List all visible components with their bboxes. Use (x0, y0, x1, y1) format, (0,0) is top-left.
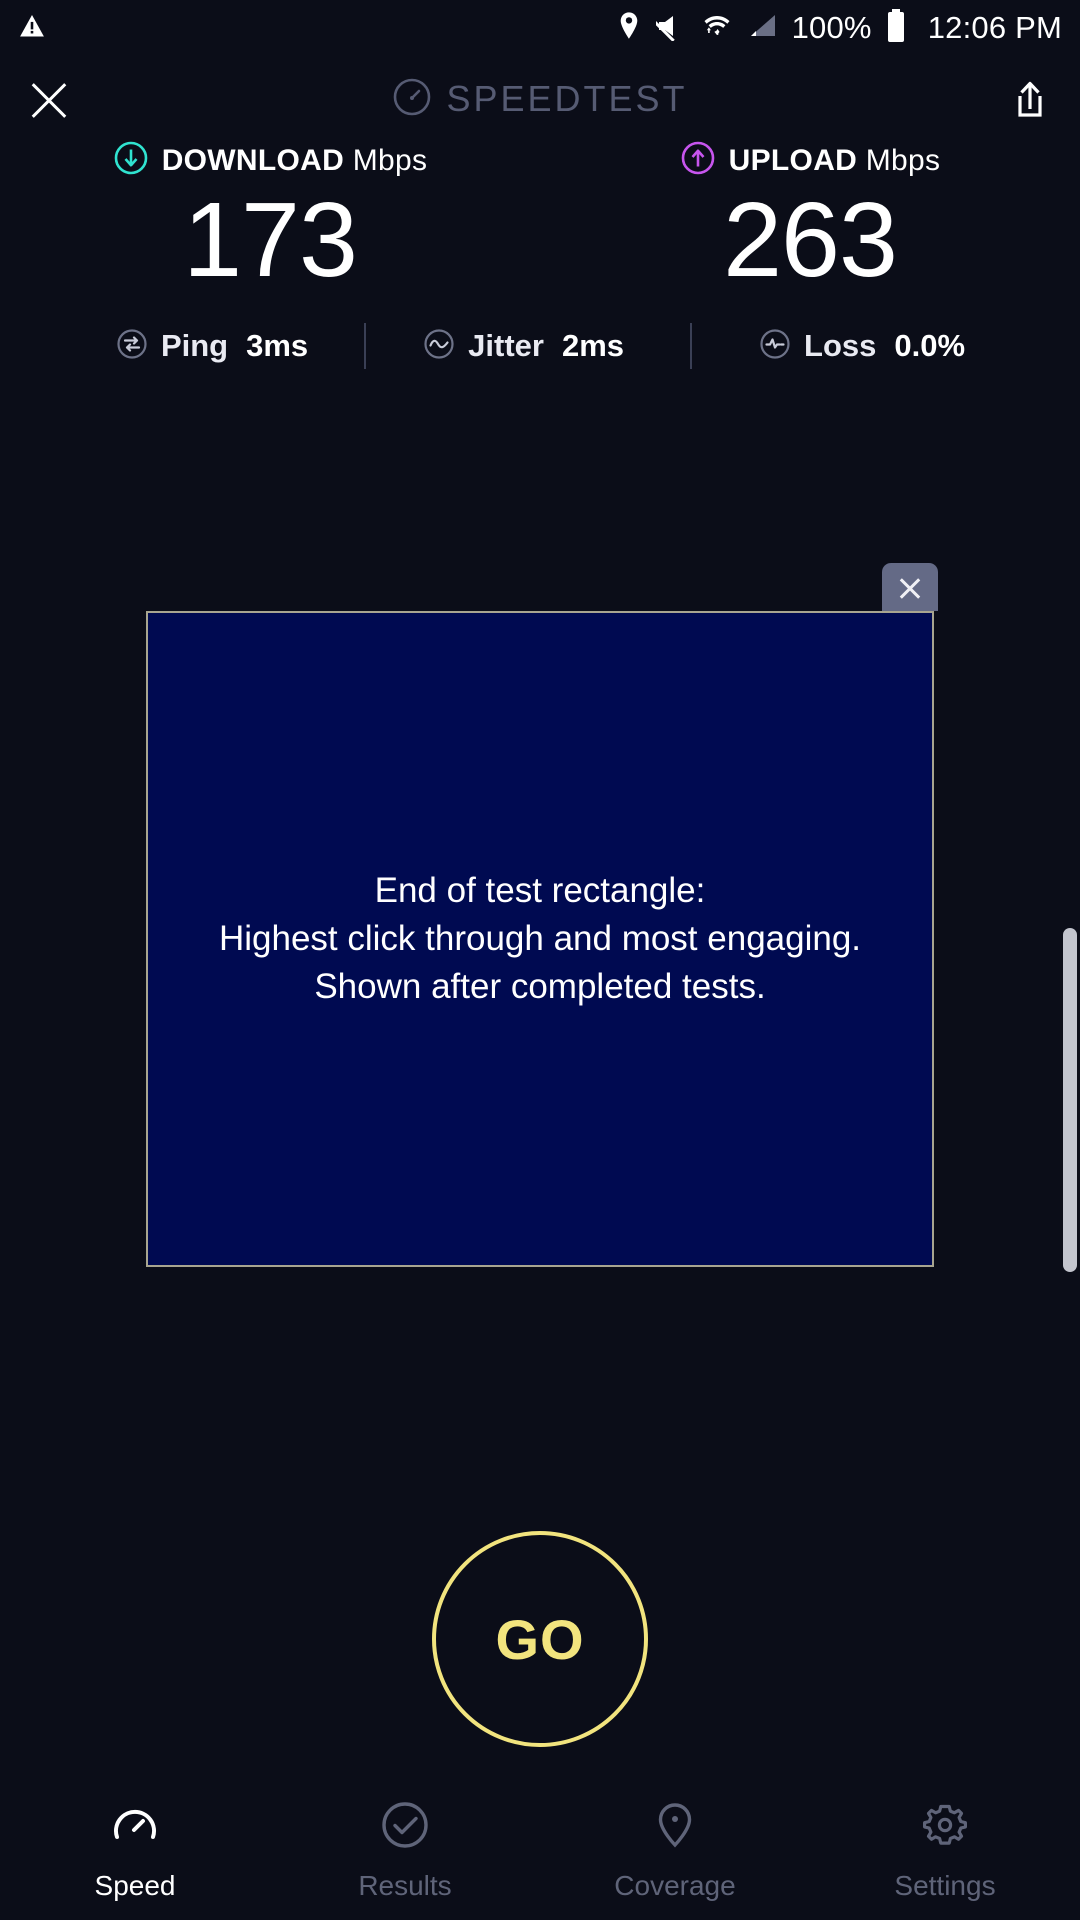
battery-full-icon (886, 9, 906, 48)
scrollbar-thumb[interactable] (1063, 928, 1077, 1272)
location-pin-icon (616, 11, 642, 46)
loss-value: 0.0% (894, 328, 965, 364)
ping-stat: Ping 3ms (101, 327, 322, 366)
download-header: DOWNLOAD Mbps (113, 140, 428, 181)
ping-icon (115, 327, 149, 366)
download-metric: DOWNLOAD Mbps 173 (0, 140, 540, 293)
cellular-signal-icon (746, 11, 778, 46)
ping-value: 3ms (246, 328, 308, 364)
nav-label-coverage: Coverage (614, 1870, 735, 1902)
gear-icon (919, 1799, 971, 1856)
upload-header: UPLOAD Mbps (680, 140, 941, 181)
ad-close-icon[interactable] (882, 563, 938, 611)
status-bar-left (18, 12, 46, 45)
ping-jitter-loss-row: Ping 3ms Jitter 2ms Loss 0.0 (0, 311, 1080, 381)
map-pin-icon (649, 1799, 701, 1856)
share-icon[interactable] (1006, 75, 1054, 123)
status-bar: 100% 12:06 PM (0, 0, 1080, 56)
nav-item-speed[interactable]: Speed (0, 1780, 270, 1920)
check-circle-icon (379, 1799, 431, 1856)
status-bar-clock: 12:06 PM (928, 10, 1062, 46)
speedometer-icon (392, 77, 432, 122)
upload-arrow-icon (680, 140, 716, 181)
loss-label: Loss (804, 328, 876, 364)
nav-label-speed: Speed (95, 1870, 176, 1902)
jitter-label: Jitter (468, 328, 544, 364)
download-arrow-icon (113, 140, 149, 181)
jitter-stat: Jitter 2ms (408, 327, 638, 366)
status-bar-right: 100% 12:06 PM (616, 9, 1062, 48)
speedtest-app-screen: 100% 12:06 PM SPEEDTEST (0, 0, 1080, 1920)
ad-text: End of test rectangle: Highest click thr… (219, 867, 861, 1012)
loss-stat: Loss 0.0% (744, 327, 979, 366)
stat-divider-2 (690, 323, 692, 369)
battery-percent-label: 100% (792, 10, 872, 46)
jitter-value: 2ms (562, 328, 624, 364)
warning-triangle-icon (18, 12, 46, 45)
ad-close-x-glyph (897, 574, 923, 600)
ping-label: Ping (161, 328, 228, 364)
upload-label: UPLOAD Mbps (729, 144, 941, 178)
page-title: SPEEDTEST (446, 78, 687, 120)
go-button-label: GO (495, 1607, 584, 1672)
app-title-group: SPEEDTEST (0, 77, 1080, 122)
download-value: 173 (183, 187, 357, 293)
test-results: DOWNLOAD Mbps 173 UPLOAD Mbps 263 (0, 140, 1080, 381)
nav-item-settings[interactable]: Settings (810, 1780, 1080, 1920)
loss-icon (758, 327, 792, 366)
download-label: DOWNLOAD Mbps (162, 144, 428, 178)
wifi-icon (702, 11, 732, 46)
advertisement-banner[interactable]: End of test rectangle: Highest click thr… (146, 611, 934, 1267)
nav-item-coverage[interactable]: Coverage (540, 1780, 810, 1920)
upload-metric: UPLOAD Mbps 263 (540, 140, 1080, 293)
bottom-navigation-bar: Speed Results Coverage Settings (0, 1780, 1080, 1920)
upload-value: 263 (723, 187, 897, 293)
stat-divider-1 (364, 323, 366, 369)
nav-item-results[interactable]: Results (270, 1780, 540, 1920)
speed-values-row: DOWNLOAD Mbps 173 UPLOAD Mbps 263 (0, 140, 1080, 293)
app-bar: SPEEDTEST (0, 56, 1080, 142)
go-button[interactable]: GO (432, 1531, 648, 1747)
speedometer-icon (109, 1799, 161, 1856)
jitter-icon (422, 327, 456, 366)
nav-label-results: Results (358, 1870, 451, 1902)
nav-label-settings: Settings (894, 1870, 995, 1902)
close-icon[interactable] (26, 76, 72, 122)
volume-mute-icon (656, 11, 688, 46)
